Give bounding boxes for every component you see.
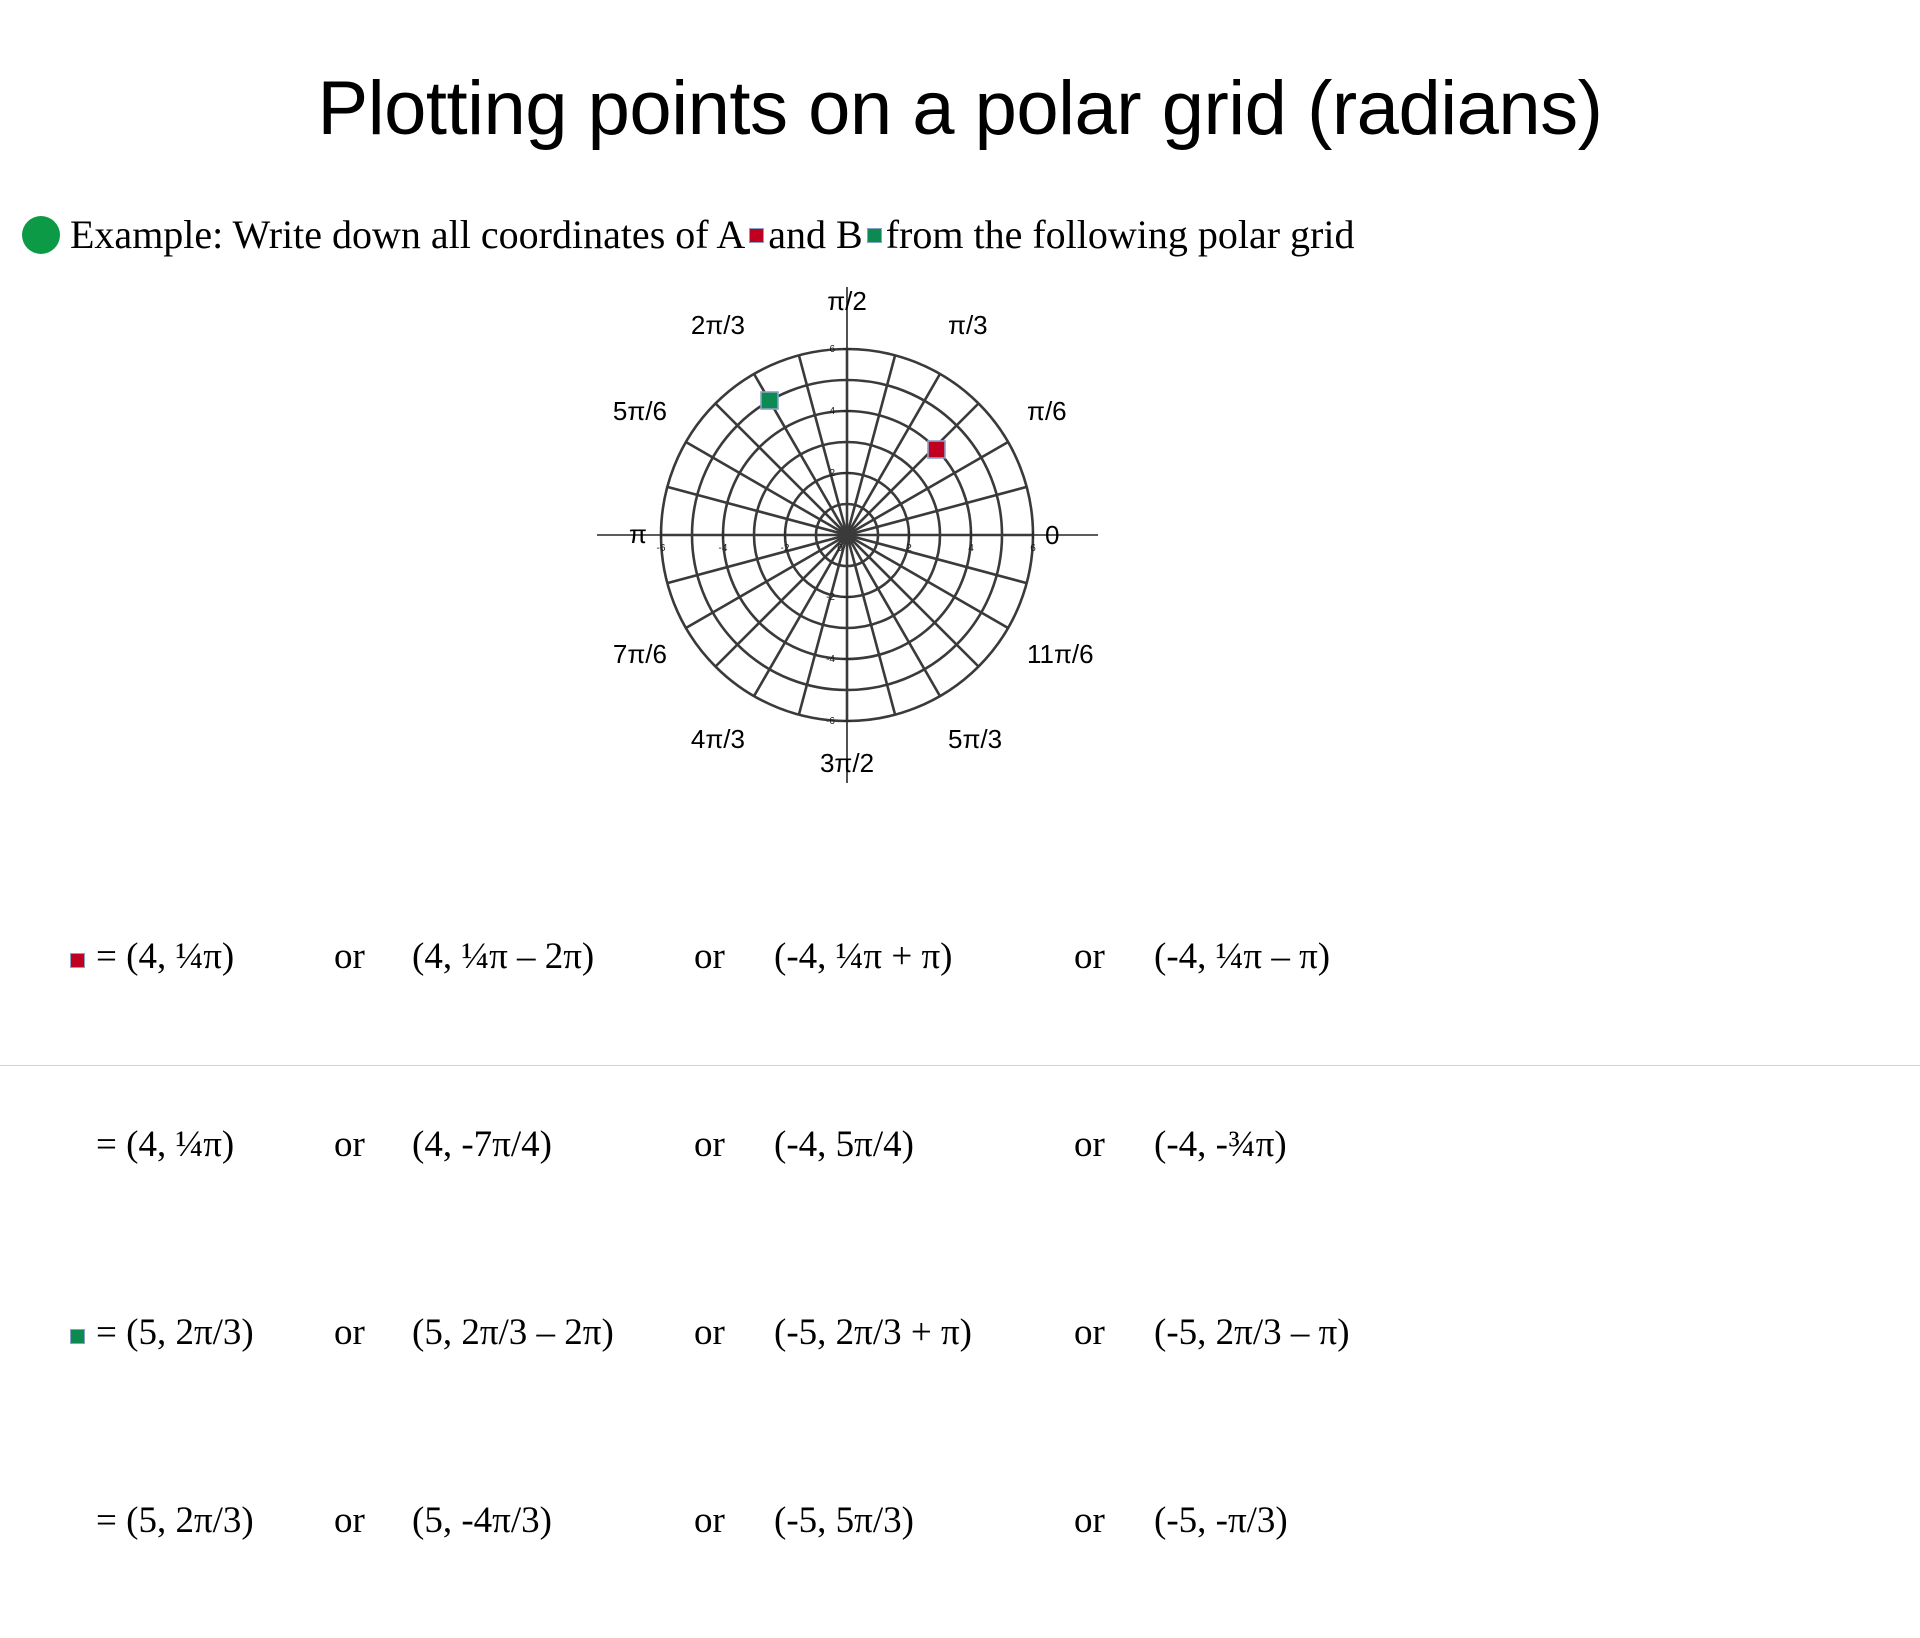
green-circle-bullet-icon — [22, 216, 60, 254]
angle-label-4pi-3: 4π/3 — [691, 724, 745, 754]
y-tick-label-neg4: -4 — [826, 654, 835, 665]
answer-a2-or-3: or — [1074, 1121, 1154, 1168]
example-text-between: and B — [768, 212, 862, 258]
answer-a1-or-2: or — [694, 933, 774, 980]
answer-a1-or-1: or — [334, 933, 412, 980]
answer-block: = (4, ¼π) or (4, ¼π – 2π) or (-4, ¼π + π… — [70, 792, 1350, 1638]
angle-label-3pi-2: 3π/2 — [820, 748, 874, 778]
y-tick-label-2: 2 — [829, 468, 835, 479]
answer-a2-or-2: or — [694, 1121, 774, 1168]
answer-b2-alt-2: (-5, 5π/3) — [774, 1497, 1074, 1544]
answer-b2-or-3: or — [1074, 1497, 1154, 1544]
y-tick-label-neg2: -2 — [826, 592, 835, 603]
example-bullet-line: Example: Write down all coordinates of A… — [22, 212, 1355, 258]
x-tick-label-neg2: -2 — [781, 543, 790, 554]
answer-a2-alt-2: (-4, 5π/4) — [774, 1121, 1074, 1168]
y-tick-label-4: 4 — [829, 406, 835, 417]
answer-b1-or-1: or — [334, 1309, 412, 1356]
answer-row-a-1: = (4, ¼π) or (4, ¼π – 2π) or (-4, ¼π + π… — [70, 933, 1350, 980]
answer-row-b-1: = (5, 2π/3) or (5, 2π/3 – 2π) or (-5, 2π… — [70, 1309, 1350, 1356]
answer-b2-or-2: or — [694, 1497, 774, 1544]
polar-grid-svg: .ring { fill: none; stroke: #3a3a3a; str… — [575, 285, 1120, 785]
answer-row-a-2: = (4, ¼π) or (4, -7π/4) or (-4, 5π/4) or… — [70, 1121, 1350, 1168]
answer-b1-alt-2: (-5, 2π/3 + π) — [774, 1309, 1074, 1356]
polar-spokes — [661, 349, 1033, 721]
plotted-point-a — [928, 441, 945, 458]
plotted-point-b — [761, 392, 778, 409]
angle-label-7pi-6: 7π/6 — [613, 639, 667, 669]
answer-a2-or-1: or — [334, 1121, 412, 1168]
angle-label-pi-3: π/3 — [948, 310, 988, 340]
answer-b2-alt-3: (-5, -π/3) — [1154, 1497, 1288, 1544]
x-tick-label-neg4: -4 — [719, 543, 728, 554]
answer-a2-primary: = (4, ¼π) — [96, 1121, 334, 1168]
answer-b2-alt-1: (5, -4π/3) — [412, 1497, 694, 1544]
answer-b2-or-1: or — [334, 1497, 412, 1544]
y-tick-label-neg6: -6 — [826, 716, 835, 727]
angle-label-5pi-3: 5π/3 — [948, 724, 1002, 754]
answer-b1-or-2: or — [694, 1309, 774, 1356]
red-square-icon — [70, 953, 85, 968]
example-text-after: from the following polar grid — [886, 212, 1355, 258]
x-tick-label-zero: 0 — [837, 543, 843, 554]
answer-b2-primary: = (5, 2π/3) — [96, 1497, 334, 1544]
x-tick-label-neg6: -6 — [657, 543, 666, 554]
angle-label-0: 0 — [1045, 520, 1059, 550]
x-tick-label-6: 6 — [1030, 543, 1036, 554]
answer-b1-alt-1: (5, 2π/3 – 2π) — [412, 1309, 694, 1356]
answer-row-b-2: = (5, 2π/3) or (5, -4π/3) or (-5, 5π/3) … — [70, 1497, 1350, 1544]
example-text-before-a: Example: Write down all coordinates of A — [70, 212, 745, 258]
angle-label-2pi-3: 2π/3 — [691, 310, 745, 340]
page-title: Plotting points on a polar grid (radians… — [0, 66, 1920, 152]
angle-label-pi-2: π/2 — [827, 286, 867, 316]
answer-a1-alt-2: (-4, ¼π + π) — [774, 933, 1074, 980]
answer-a1-primary: = (4, ¼π) — [96, 933, 334, 980]
x-tick-label-4: 4 — [968, 543, 974, 554]
angle-label-11pi-6: 11π/6 — [1027, 639, 1094, 669]
marker-a-red-square-icon — [749, 228, 764, 243]
answer-marker-b — [70, 1329, 96, 1344]
marker-b-green-square-icon — [867, 228, 882, 243]
angle-label-5pi-6: 5π/6 — [613, 396, 667, 426]
slide-bottom-divider — [0, 1065, 1920, 1066]
answer-a2-alt-1: (4, -7π/4) — [412, 1121, 694, 1168]
green-square-icon — [70, 1329, 85, 1344]
answer-a1-alt-3: (-4, ¼π – π) — [1154, 933, 1330, 980]
y-tick-label-6: 6 — [829, 344, 835, 355]
x-tick-label-2: 2 — [906, 543, 912, 554]
answer-a2-alt-3: (-4, -¾π) — [1154, 1121, 1287, 1168]
answer-a1-alt-1: (4, ¼π – 2π) — [412, 933, 694, 980]
answer-b1-alt-3: (-5, 2π/3 – π) — [1154, 1309, 1350, 1356]
angle-label-pi: π — [629, 519, 647, 549]
angle-label-pi-6: π/6 — [1027, 396, 1067, 426]
polar-grid-figure: .ring { fill: none; stroke: #3a3a3a; str… — [575, 285, 1120, 785]
answer-b1-or-3: or — [1074, 1309, 1154, 1356]
answer-a1-or-3: or — [1074, 933, 1154, 980]
answer-b1-primary: = (5, 2π/3) — [96, 1309, 334, 1356]
answer-marker-a — [70, 953, 96, 968]
